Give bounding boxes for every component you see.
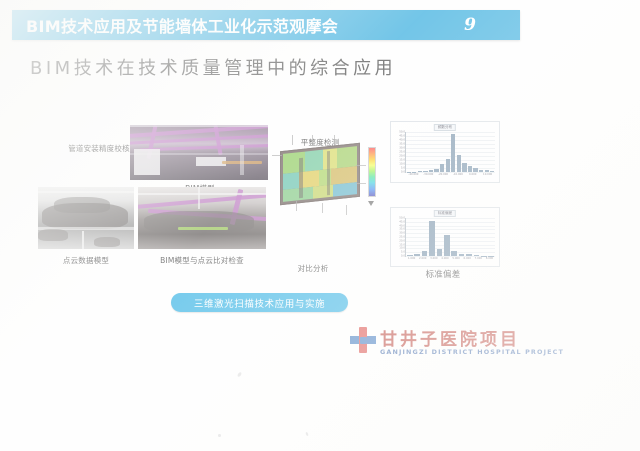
y-axis-tick-label: 15.0 [399, 159, 405, 162]
hospital-cross-icon [350, 327, 376, 353]
caption-point-cloud-model: 点云数据模型 [46, 255, 126, 266]
x-axis-tick-label: -20.000 [438, 173, 448, 176]
x-axis-tick-label: 2.000 [419, 257, 426, 260]
slide-page: BIM技术应用及节能墙体工业化示范观摩会 9 BIM技术在技术质量管理中的综合应… [0, 0, 640, 451]
bar [446, 159, 450, 172]
x-axis-tick-label: -10.000 [453, 173, 463, 176]
y-axis-tick-label: 0.0 [401, 255, 405, 258]
plot-area-histogram-top: 50.045.040.035.030.025.020.015.010.05.00… [405, 132, 495, 173]
y-axis-tick-label: 35.0 [399, 228, 405, 231]
y-axis-tick-label: 45.0 [399, 220, 405, 223]
gridline [406, 248, 495, 249]
gridline [406, 222, 495, 223]
bar [459, 254, 465, 256]
y-axis-tick-label: 30.0 [399, 232, 405, 235]
bar [423, 171, 427, 172]
chart-title-histogram-bottom: 标准偏差 [434, 210, 456, 217]
y-axis-tick-label: 25.0 [399, 151, 405, 154]
figure-flatness-heatmap [280, 143, 360, 205]
y-axis-tick-label: 35.0 [399, 143, 405, 146]
page-number: 9 [464, 15, 476, 35]
y-axis-tick-label: 25.0 [399, 236, 405, 239]
bar [440, 164, 444, 172]
x-axis-tick-label: 1.000 [408, 257, 415, 260]
x-axis-tick-label: 0.000 [469, 173, 476, 176]
logo-name-en: GANJINGZI DISTRICT HOSPITAL PROJECT [380, 348, 564, 356]
x-axis-tick-label: 4.000 [441, 257, 448, 260]
y-axis-tick-label: 40.0 [399, 224, 405, 227]
x-axis-tick-label: -30.000 [423, 173, 433, 176]
header-title: BIM技术应用及节能墙体工业化示范观摩会 [26, 13, 338, 37]
bar [451, 134, 455, 172]
x-axis-tick-label: 7.000 [475, 257, 482, 260]
scan-speck [237, 372, 242, 378]
y-axis-tick-label: 5.0 [401, 167, 405, 170]
chart-title-histogram-top: 频数分布 [434, 124, 456, 131]
y-axis-tick-label: 15.0 [399, 243, 405, 246]
flatness-colorbar [368, 147, 376, 197]
gridline [406, 229, 495, 230]
bar [457, 155, 461, 172]
header-bar: BIM技术应用及节能墙体工业化示范观摩会 9 [12, 10, 520, 40]
gridline [406, 218, 495, 219]
x-axis-tick-label: 6.000 [463, 257, 470, 260]
bar [429, 221, 435, 256]
bar [418, 171, 422, 172]
gridline [406, 245, 495, 246]
x-axis-tick-label: 5.000 [452, 257, 459, 260]
bar [429, 170, 433, 172]
bar [466, 254, 472, 256]
bar [473, 168, 477, 172]
scan-speck [305, 432, 308, 436]
y-axis-tick-label: 10.0 [399, 247, 405, 250]
y-axis-tick-label: 10.0 [399, 163, 405, 166]
gridline [406, 226, 495, 227]
bar [485, 170, 489, 172]
x-axis-tick-label: 8.000 [486, 257, 493, 260]
bar [414, 254, 420, 256]
bar [462, 163, 466, 172]
logo-name-cn: 甘井子医院项目 [380, 325, 520, 350]
bar [474, 255, 480, 256]
scan-speck [218, 434, 221, 437]
y-axis-tick-label: 50.0 [399, 131, 405, 134]
caption-bim-cloud-compare: BIM模型与点云比对检查 [138, 255, 266, 266]
colorbar-arrow-icon [368, 201, 374, 206]
content-area: 管道安装精度校核 BIM模型 点云数据模型 [0, 95, 640, 325]
x-axis-tick-label: 3.000 [430, 257, 437, 260]
bar [437, 249, 443, 256]
x-axis-tick-label: -40.000 [408, 173, 418, 176]
figure-bim-cloud-compare [138, 187, 266, 249]
section-pill-label: 三维激光扫描技术应用与实施 [194, 296, 325, 310]
bar [444, 235, 450, 256]
y-axis-tick-label: 5.0 [401, 251, 405, 254]
figure-bim-model [130, 125, 268, 180]
gridline [406, 241, 495, 242]
bar [490, 171, 494, 172]
caption-standard-deviation: 标准偏差 [408, 268, 478, 280]
y-axis-tick-label: 0.0 [401, 171, 405, 174]
chart-histogram-bottom: 标准偏差 50.045.040.035.030.025.020.015.010.… [390, 207, 500, 267]
y-axis-tick-label: 30.0 [399, 147, 405, 150]
y-axis-tick-label: 20.0 [399, 239, 405, 242]
y-axis-tick-label: 40.0 [399, 139, 405, 142]
bar [434, 169, 438, 172]
gridline [406, 172, 495, 173]
bar [479, 170, 483, 172]
bar [407, 255, 413, 256]
bar [422, 251, 428, 256]
plot-area-histogram-bottom: 50.045.040.035.030.025.020.015.010.05.00… [405, 218, 495, 257]
caption-comparison-analysis: 对比分析 [285, 263, 341, 274]
slide-title: BIM技术在技术质量管理中的综合应用 [30, 54, 550, 80]
x-axis-tick-label: 10.000 [483, 173, 492, 176]
y-axis-tick-label: 20.0 [399, 155, 405, 158]
y-axis-tick-label: 50.0 [399, 217, 405, 220]
bar [468, 166, 472, 172]
project-logo: 甘井子医院项目 GANJINGZI DISTRICT HOSPITAL PROJ… [350, 325, 518, 361]
gridline [406, 132, 495, 133]
gridline [406, 233, 495, 234]
y-axis-tick-label: 45.0 [399, 135, 405, 138]
figure-point-cloud-model [38, 187, 134, 249]
bar [451, 251, 457, 256]
chart-histogram-top: 频数分布 50.045.040.035.030.025.020.015.010.… [390, 121, 500, 183]
section-pill[interactable]: 三维激光扫描技术应用与实施 [171, 293, 348, 312]
gridline [406, 237, 495, 238]
